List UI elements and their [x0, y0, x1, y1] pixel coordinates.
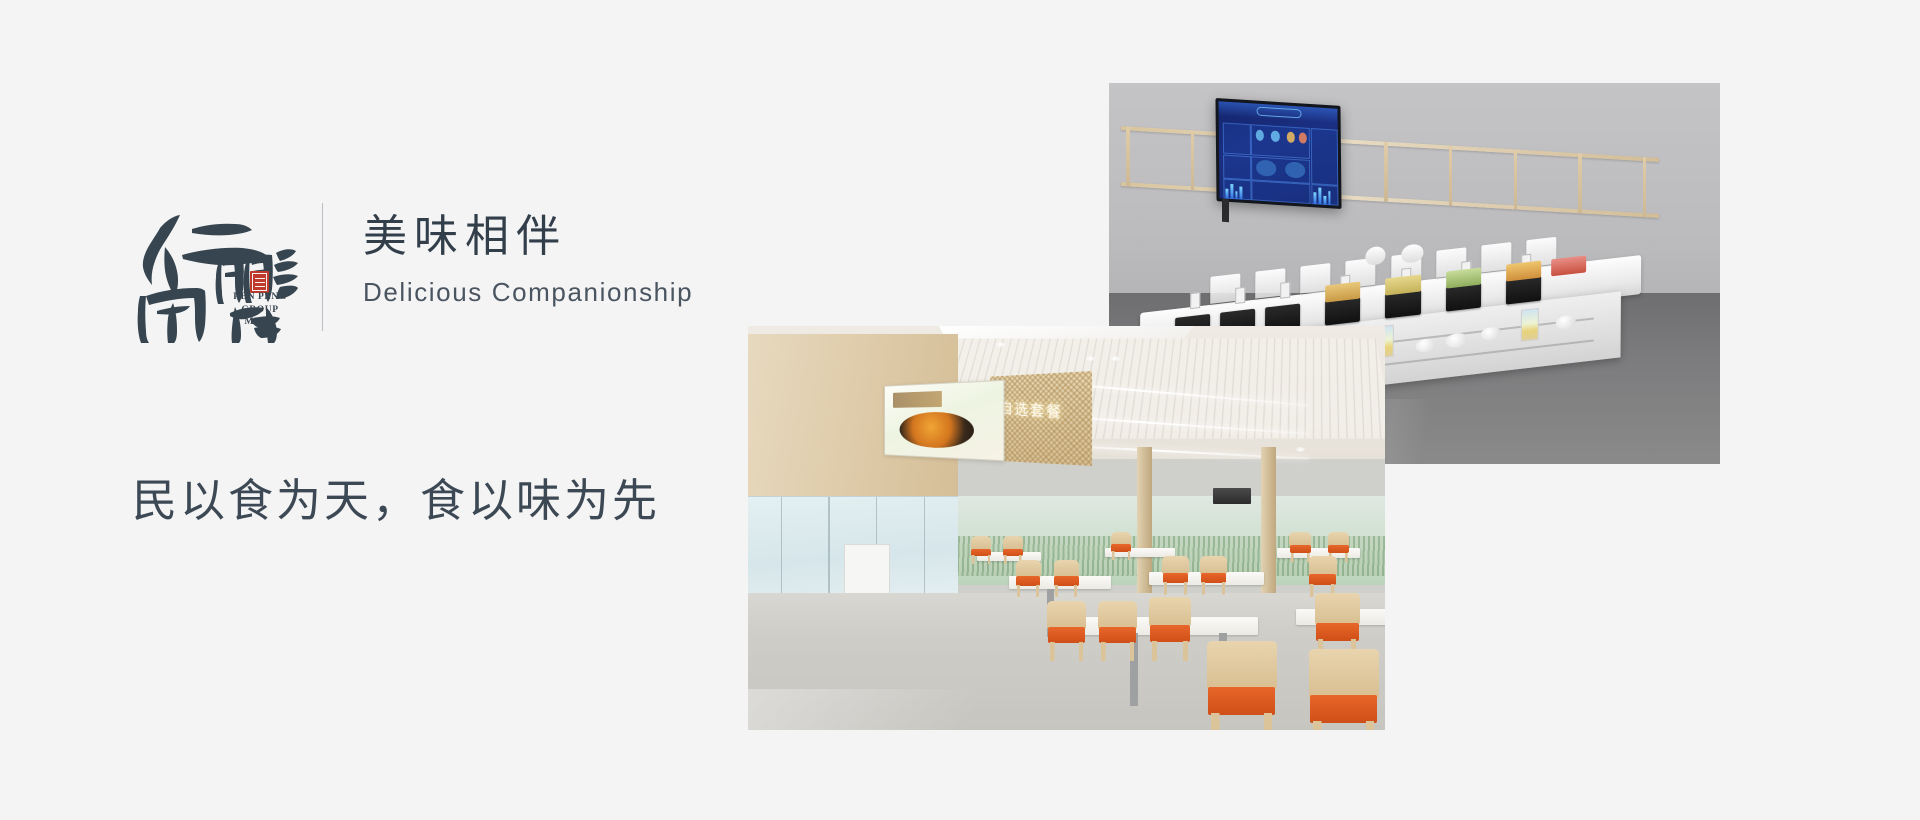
- dashboard-kpi-dot: [1299, 132, 1307, 143]
- red-seal-icon: [250, 271, 269, 293]
- lightbox-brand-logo: [894, 391, 943, 408]
- dashboard-bar: [1318, 188, 1321, 205]
- chair-seat: [1208, 687, 1275, 714]
- chair-seat: [1316, 623, 1359, 641]
- dashboard-bar: [1225, 189, 1228, 199]
- brand-english-line-3: MEAL: [222, 316, 298, 329]
- banner-stage: REN PENG GROUP MEAL 美味相伴 Delicious Compa…: [0, 0, 1920, 820]
- dining-chair: [1309, 556, 1337, 596]
- chair-legs: [1101, 642, 1135, 661]
- chair-legs: [1202, 582, 1226, 594]
- dashboard-screen-stand: [1222, 199, 1229, 222]
- electronic-price-tag: [1280, 282, 1290, 299]
- chair-back: [1200, 556, 1227, 574]
- dashboard-card: [1251, 180, 1310, 204]
- brand-english-name: REN PENG GROUP MEAL: [222, 291, 298, 329]
- dashboard-radial-chart: [1256, 160, 1276, 177]
- chair-back: [1289, 532, 1311, 546]
- chair-legs: [1050, 642, 1084, 661]
- chair-seat: [1150, 625, 1190, 642]
- dashboard-kpi-dot: [1271, 131, 1279, 142]
- chair-back: [1328, 532, 1350, 546]
- dashboard-card: [1222, 123, 1251, 156]
- dining-chair-foreground: [1309, 649, 1379, 730]
- hanging-menu-screen: [1213, 488, 1251, 504]
- trellis-post: [1578, 154, 1582, 214]
- chair-legs: [1211, 713, 1273, 730]
- chair-legs: [1055, 585, 1077, 597]
- chair-legs: [1152, 641, 1188, 662]
- chair-back: [1162, 556, 1189, 574]
- electronic-price-tag: [1235, 287, 1245, 304]
- dining-chair-foreground: [1207, 641, 1277, 730]
- dining-chair: [1111, 532, 1131, 560]
- dashboard-bar: [1323, 196, 1326, 205]
- soup-ladle-stand: [1365, 246, 1385, 267]
- trellis-post: [1385, 142, 1389, 202]
- chair-seat: [1099, 627, 1136, 643]
- dashboard-bar: [1235, 191, 1238, 199]
- headline-title-cn: 美味相伴: [363, 209, 693, 265]
- chair-seat: [1048, 627, 1085, 643]
- chair-seat: [1310, 695, 1377, 722]
- trellis-post: [1191, 131, 1195, 191]
- trellis-post: [1449, 146, 1453, 206]
- dining-chair: [1200, 556, 1227, 594]
- slogan-text: 民以食为天，食以味为先: [132, 470, 660, 532]
- dashboard-kpi-dot: [1256, 130, 1264, 141]
- floor-reflection: [748, 689, 1130, 730]
- dining-chair: [1054, 560, 1079, 596]
- chair-back: [1315, 593, 1360, 625]
- dining-chair: [1149, 597, 1190, 662]
- dining-chair: [1016, 560, 1041, 596]
- electronic-price-tag: [1190, 292, 1200, 309]
- illuminated-menu-lightbox: [885, 379, 1006, 460]
- dashboard-bar: [1240, 187, 1243, 200]
- chair-back: [1309, 649, 1379, 697]
- dashboard-card: [1310, 128, 1338, 185]
- trellis-post: [1643, 157, 1647, 217]
- dashboard-card: [1223, 155, 1251, 180]
- dining-chair: [1162, 556, 1189, 594]
- chair-back: [1047, 601, 1085, 629]
- chair-back: [1016, 560, 1041, 577]
- dashboard-kpi-dot: [1287, 132, 1295, 143]
- dining-chair: [1047, 601, 1085, 662]
- counter-poster: [1520, 308, 1538, 342]
- dashboard-header-bar: [1218, 101, 1337, 124]
- chair-back: [1054, 560, 1079, 577]
- chair-legs: [1291, 553, 1310, 563]
- wall-mounted-dashboard-screen: [1215, 98, 1341, 209]
- headline-title-en: Delicious Companionship: [363, 275, 693, 309]
- chair-legs: [1017, 585, 1039, 597]
- chair-back: [1111, 532, 1131, 545]
- trellis-post: [1127, 127, 1131, 187]
- chair-legs: [1313, 721, 1375, 730]
- trellis-post: [1514, 150, 1518, 210]
- chair-back: [1309, 556, 1337, 575]
- chair-back: [971, 536, 991, 549]
- dashboard-bar: [1230, 184, 1233, 199]
- brand-block: REN PENG GROUP MEAL 美味相伴 Delicious Compa…: [130, 195, 693, 343]
- headline-block: 美味相伴 Delicious Companionship: [363, 195, 693, 309]
- dashboard-bar: [1314, 193, 1317, 205]
- brand-english-line-2: GROUP: [222, 304, 298, 317]
- dining-chair: [971, 536, 991, 564]
- chair-legs: [972, 555, 990, 564]
- chair-legs: [1164, 582, 1188, 594]
- chair-legs: [1112, 551, 1130, 560]
- chair-back: [1003, 536, 1023, 549]
- dashboard-bar: [1328, 191, 1331, 205]
- dashboard-screen-content: [1218, 101, 1338, 205]
- brand-divider: [322, 203, 323, 331]
- brand-english-line-1: REN PENG: [222, 291, 298, 304]
- chair-back: [1207, 641, 1277, 689]
- photo-cafeteria-interior: 自选套餐: [748, 326, 1385, 730]
- chair-back: [1098, 601, 1136, 629]
- brand-logo: REN PENG GROUP MEAL: [130, 195, 298, 343]
- dining-chair: [1098, 601, 1136, 662]
- lightbox-dish-photo: [900, 411, 975, 449]
- chair-back: [1149, 597, 1190, 627]
